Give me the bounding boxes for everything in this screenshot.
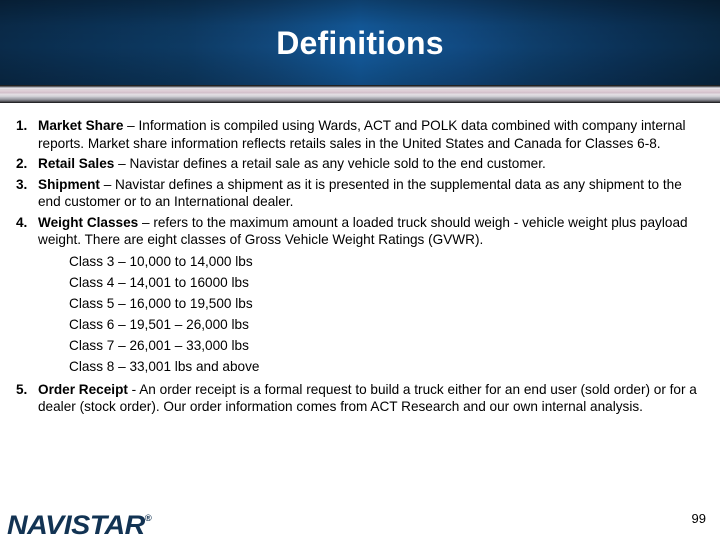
list-item: 1. Market Share – Information is compile… bbox=[14, 117, 706, 152]
header-separator-bar bbox=[0, 85, 720, 103]
list-item-number: 3. bbox=[16, 176, 27, 194]
slide-header-banner: Definitions bbox=[0, 0, 720, 85]
list-item: 3. Shipment – Navistar defines a shipmen… bbox=[14, 176, 706, 211]
list-item: 5. Order Receipt - An order receipt is a… bbox=[14, 381, 706, 416]
separator-sheen bbox=[0, 88, 720, 97]
list-item: Class 6 – 19,501 – 26,000 lbs bbox=[38, 314, 706, 335]
definitions-list: 1. Market Share – Information is compile… bbox=[0, 103, 720, 416]
weight-class-sublist: Class 3 – 10,000 to 14,000 lbs Class 4 –… bbox=[38, 251, 706, 377]
list-item-description: – Navistar defines a retail sale as any … bbox=[114, 156, 545, 171]
list-item: Class 3 – 10,000 to 14,000 lbs bbox=[38, 251, 706, 272]
slide-footer: NAVISTAR® 99 bbox=[0, 498, 720, 540]
list-item-term: Market Share bbox=[38, 118, 123, 133]
navistar-logo-text: NAVISTAR bbox=[7, 510, 145, 540]
list-item-number: 2. bbox=[16, 155, 27, 173]
list-item-number: 4. bbox=[16, 214, 27, 232]
list-item-description: – Navistar defines a shipment as it is p… bbox=[38, 177, 682, 210]
list-item-term: Order Receipt bbox=[38, 382, 128, 397]
list-item: Class 5 – 16,000 to 19,500 lbs bbox=[38, 293, 706, 314]
list-item-term: Retail Sales bbox=[38, 156, 114, 171]
page-title: Definitions bbox=[0, 25, 720, 62]
list-item-description: - An order receipt is a formal request t… bbox=[38, 382, 697, 415]
list-item-term: Weight Classes bbox=[38, 215, 138, 230]
navistar-logo: NAVISTAR® bbox=[7, 510, 152, 541]
registered-trademark-icon: ® bbox=[145, 513, 152, 523]
list-item-number: 1. bbox=[16, 117, 27, 135]
slide-content: 1. Market Share – Information is compile… bbox=[0, 103, 720, 498]
page-number: 99 bbox=[692, 511, 706, 526]
list-item-number: 5. bbox=[16, 381, 27, 399]
list-item: 2. Retail Sales – Navistar defines a ret… bbox=[14, 155, 706, 173]
list-item-description: – Information is compiled using Wards, A… bbox=[38, 118, 686, 151]
list-item: 4. Weight Classes – refers to the maximu… bbox=[14, 214, 706, 377]
list-item: Class 8 – 33,001 lbs and above bbox=[38, 356, 706, 377]
list-item-term: Shipment bbox=[38, 177, 100, 192]
list-item: Class 7 – 26,001 – 33,000 lbs bbox=[38, 335, 706, 356]
list-item: Class 4 – 14,001 to 16000 lbs bbox=[38, 272, 706, 293]
